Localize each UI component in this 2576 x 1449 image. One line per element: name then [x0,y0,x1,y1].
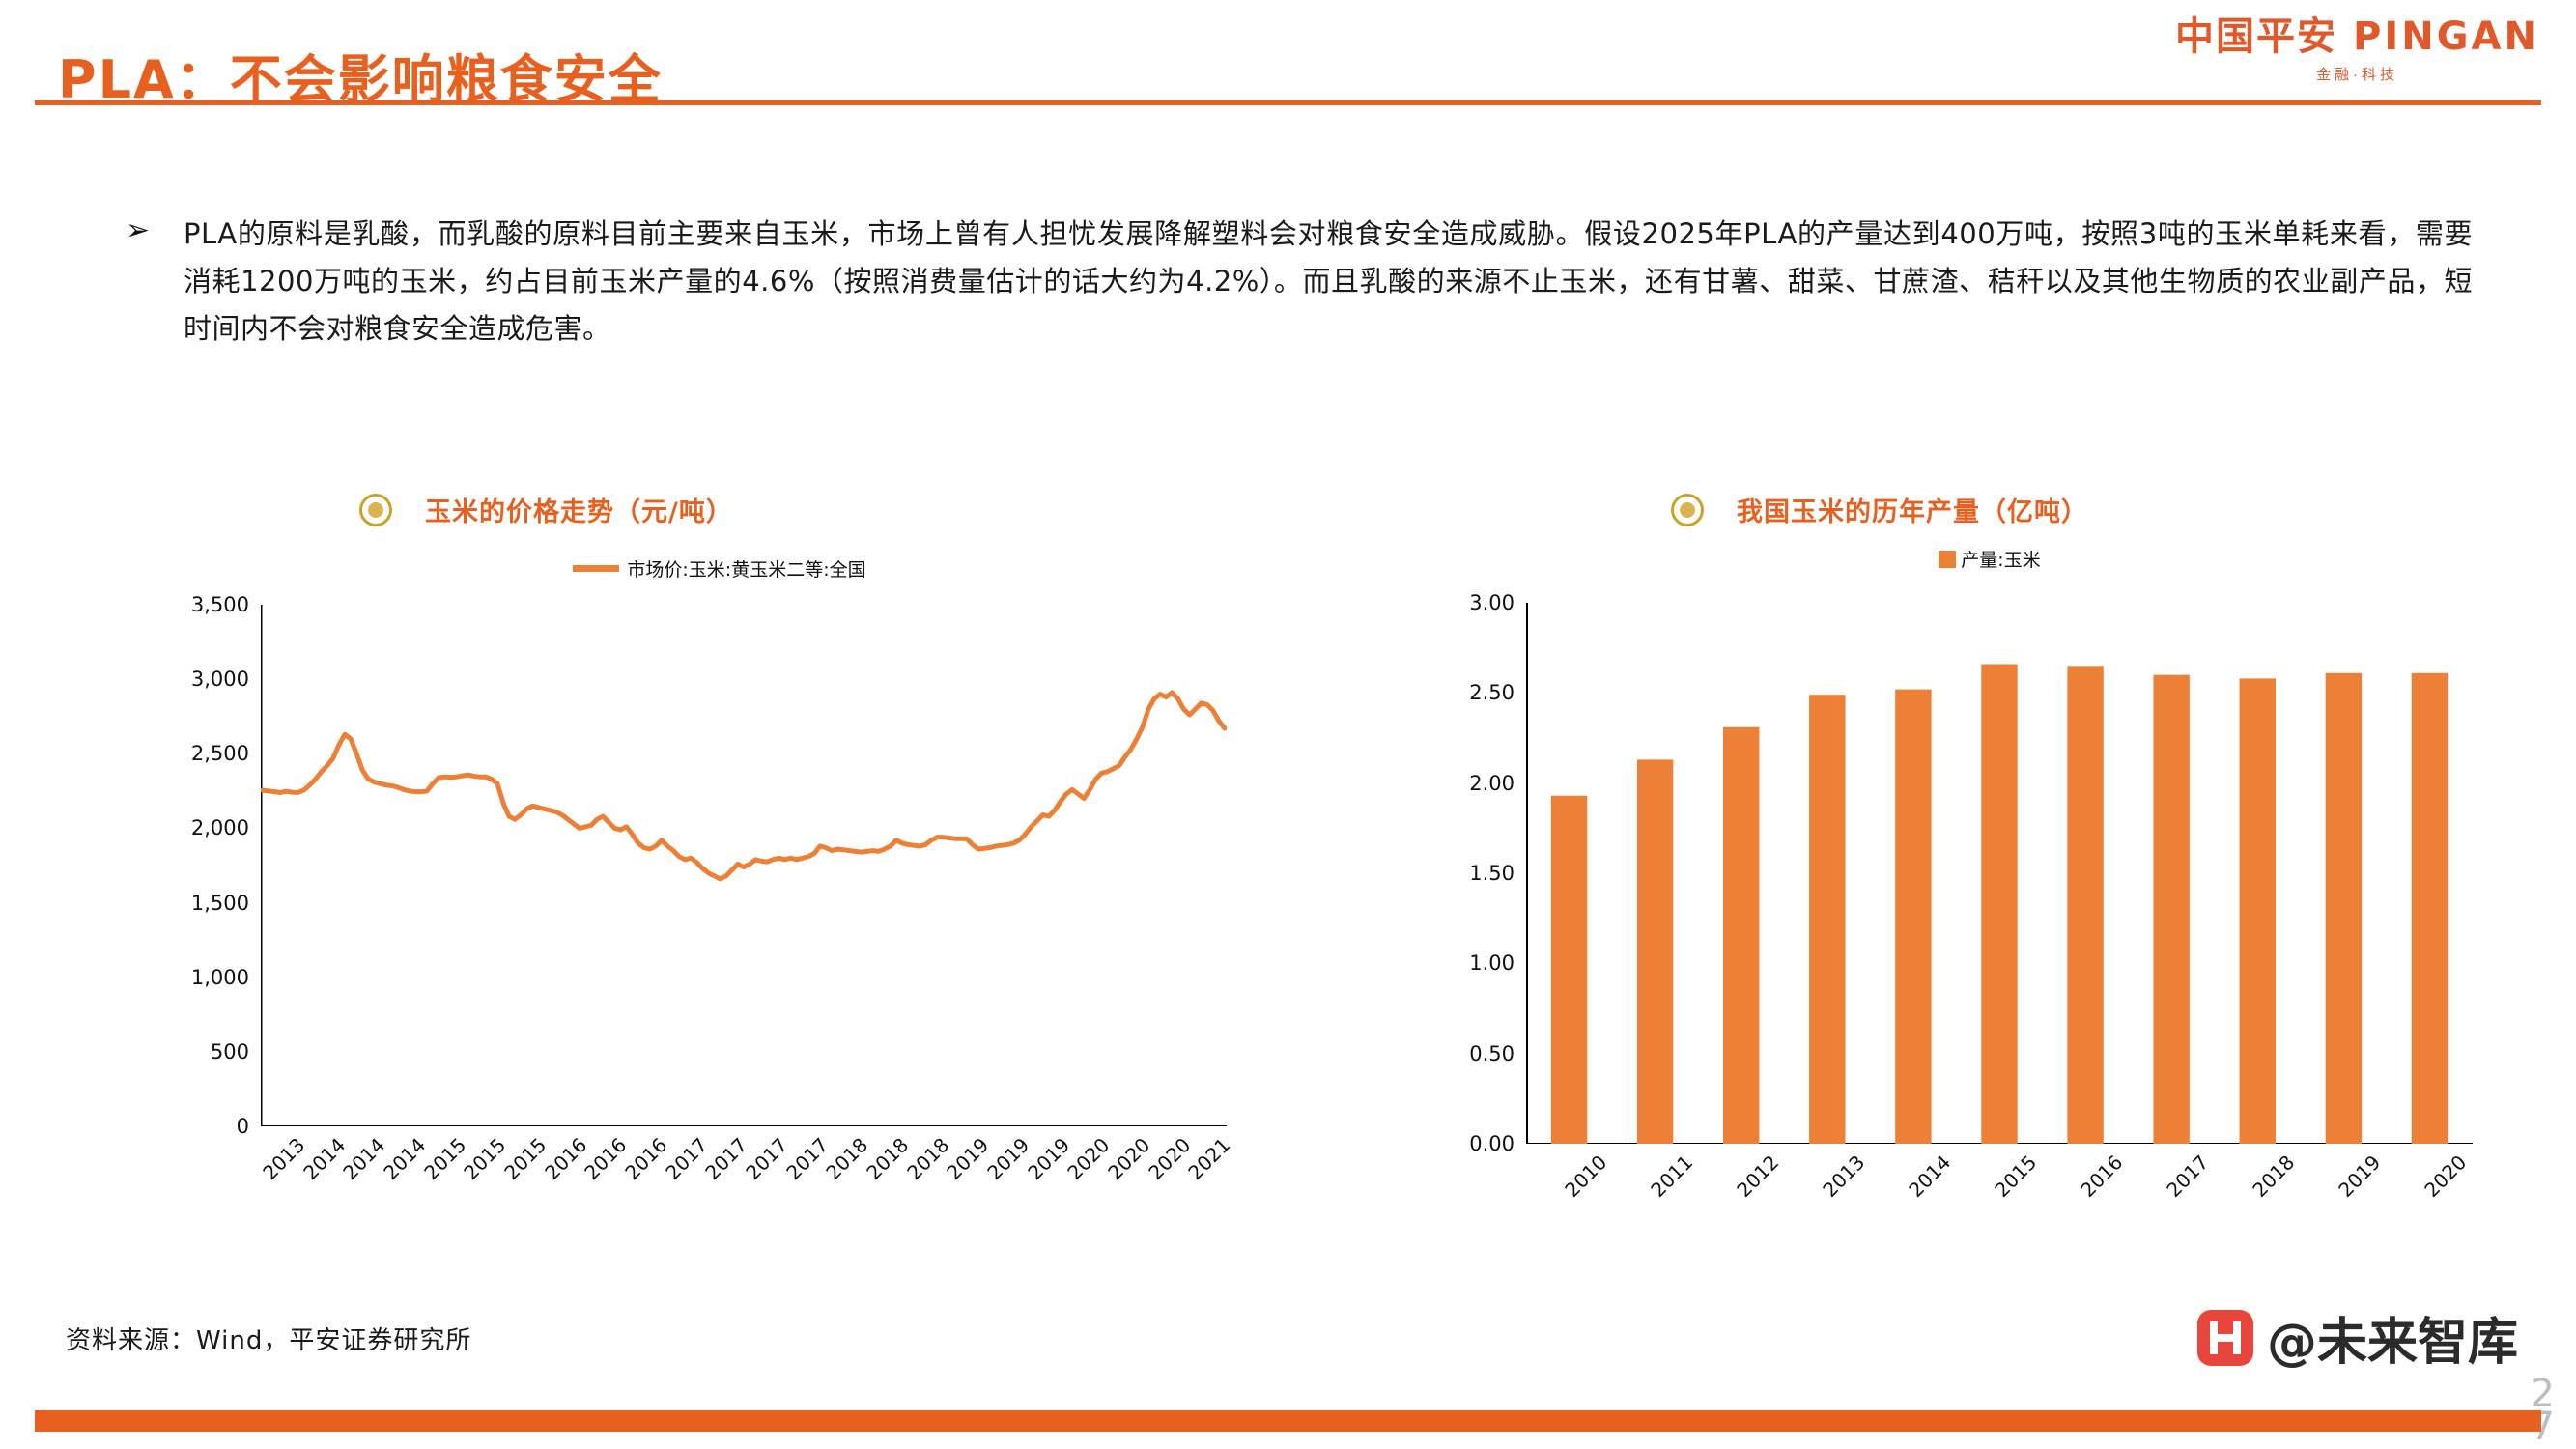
bullet-paragraph-block: ➢ PLA的原料是乳酸，而乳酸的原料目前主要来自玉米，市场上曾有人担忧发展降解塑… [126,211,2473,353]
y-axis-tick-label: 1.50 [1469,862,1514,885]
x-axis-tick-label: 2018 [902,1133,953,1184]
x-axis-tick-label: 2016 [540,1133,591,1184]
legend-bar-swatch [1939,551,1956,568]
y-axis-tick-label: 2.50 [1469,681,1514,704]
x-axis-tick-label: 2017 [661,1133,712,1184]
x-axis-tick-label: 2017 [741,1133,792,1184]
x-axis-tick-label: 2019 [1023,1133,1074,1184]
x-axis-tick-label: 2016 [620,1133,671,1184]
bar-chart-plot-area: 0.000.501.001.502.002.503.00201020112012… [1526,603,2473,1144]
title-divider [35,100,2541,105]
y-axis-tick-label: 0 [237,1115,249,1138]
x-axis-tick-label: 2011 [1646,1151,1697,1202]
x-axis-tick-label: 2018 [862,1133,913,1184]
y-axis-tick-label: 1,000 [191,966,249,989]
y-axis-tick-label: 1,500 [191,892,249,915]
bullet-arrow-icon: ➢ [126,216,150,245]
y-axis-tick-label: 2,000 [191,816,249,839]
x-axis-tick-label: 2016 [2076,1151,2127,1202]
brand-logo: 中国平安PINGAN 金融·科技 [2175,17,2539,82]
slide-root: 中国平安PINGAN 金融·科技 PLA：不会影响粮食安全 ➢ PLA的原料是乳… [0,0,2576,1449]
y-axis-tick-label: 2.00 [1469,772,1514,795]
bar-chart-legend: 产量:玉米 [1458,546,2521,572]
x-axis-tick-label: 2014 [298,1133,350,1184]
y-axis-tick-label: 1.00 [1469,952,1514,975]
watermark: @未来智库 [2197,1301,2518,1374]
x-axis-tick-label: 2016 [580,1133,631,1184]
x-axis-tick-label: 2020 [1144,1133,1195,1184]
legend-line-label: 市场价:玉米:黄玉米二等:全国 [627,555,865,582]
source-note: 资料来源：Wind，平安证券研究所 [66,1321,471,1356]
bullet-ring-icon [1671,494,1704,526]
section-heading-right: 我国玉米的历年产量（亿吨） [1671,491,2088,528]
x-axis-tick-label: 2017 [2162,1151,2213,1202]
watermark-label: @未来智库 [2267,1301,2518,1374]
y-axis-tick-label: 500 [211,1040,249,1064]
footer-bar [35,1410,2541,1432]
x-axis-tick-label: 2019 [982,1133,1033,1184]
x-axis-tick-label: 2017 [781,1133,833,1184]
x-axis-tick-label: 2020 [2420,1151,2472,1202]
x-axis-tick-label: 2020 [1103,1133,1154,1184]
body-paragraph: PLA的原料是乳酸，而乳酸的原料目前主要来自玉米，市场上曾有人担忧发展降解塑料会… [184,211,2473,353]
x-axis-tick-label: 2012 [1732,1151,1783,1202]
x-axis-tick-label: 2018 [821,1133,872,1184]
x-axis-tick-label: 2018 [2249,1151,2300,1202]
x-axis-tick-label: 2015 [419,1133,470,1184]
brand-logo-cn: 中国平安 [2175,14,2337,59]
x-axis-tick-label: 2017 [700,1133,751,1184]
section-heading-left-label: 玉米的价格走势（元/吨） [425,491,733,528]
x-axis-tick-label: 2019 [942,1133,993,1184]
y-axis-tick-label: 2,500 [191,742,249,765]
bullet-ring-icon [359,494,392,526]
x-axis-tick-label: 2010 [1560,1151,1611,1202]
x-axis-tick-label: 2015 [1990,1151,2041,1202]
y-axis-tick-label: 3,500 [191,593,249,616]
corn-price-line-chart: 市场价:玉米:黄玉米二等:全国 05001,0001,5002,0002,500… [145,555,1236,1232]
legend-line-swatch [573,565,619,572]
x-axis-tick-label: 2021 [1183,1133,1234,1184]
x-axis-tick-label: 2014 [1904,1151,1955,1202]
toutiao-logo-icon [2197,1310,2253,1366]
y-axis-tick-label: 3.00 [1469,591,1514,614]
y-axis-tick-label: 0.50 [1469,1042,1514,1065]
x-axis-tick-label: 2014 [338,1133,389,1184]
brand-logo-subtitle: 金融·科技 [2175,68,2539,82]
legend-bar-label: 产量:玉米 [1961,546,2040,572]
x-axis-tick-label: 2013 [258,1133,309,1184]
y-axis-tick-label: 0.00 [1469,1132,1514,1155]
x-axis-tick-label: 2015 [459,1133,510,1184]
corn-output-bar-chart: 产量:玉米 0.000.501.001.502.002.503.00201020… [1430,546,2521,1232]
x-axis-tick-label: 2015 [499,1133,551,1184]
line-chart-plot-area: 05001,0001,5002,0002,5003,0003,500201320… [261,605,1227,1126]
x-axis-tick-label: 2020 [1062,1133,1114,1184]
section-heading-left: 玉米的价格走势（元/吨） [359,491,733,528]
x-axis-tick-label: 2014 [379,1133,430,1184]
line-chart-legend: 市场价:玉米:黄玉米二等:全国 [203,555,1236,582]
brand-logo-text: 中国平安PINGAN [2175,17,2539,56]
x-axis-tick-label: 2013 [1818,1151,1869,1202]
x-axis-tick-label: 2019 [2335,1151,2386,1202]
section-heading-right-label: 我国玉米的历年产量（亿吨） [1737,491,2088,528]
brand-logo-en: PINGAN [2353,14,2539,59]
y-axis-tick-label: 3,000 [191,668,249,691]
